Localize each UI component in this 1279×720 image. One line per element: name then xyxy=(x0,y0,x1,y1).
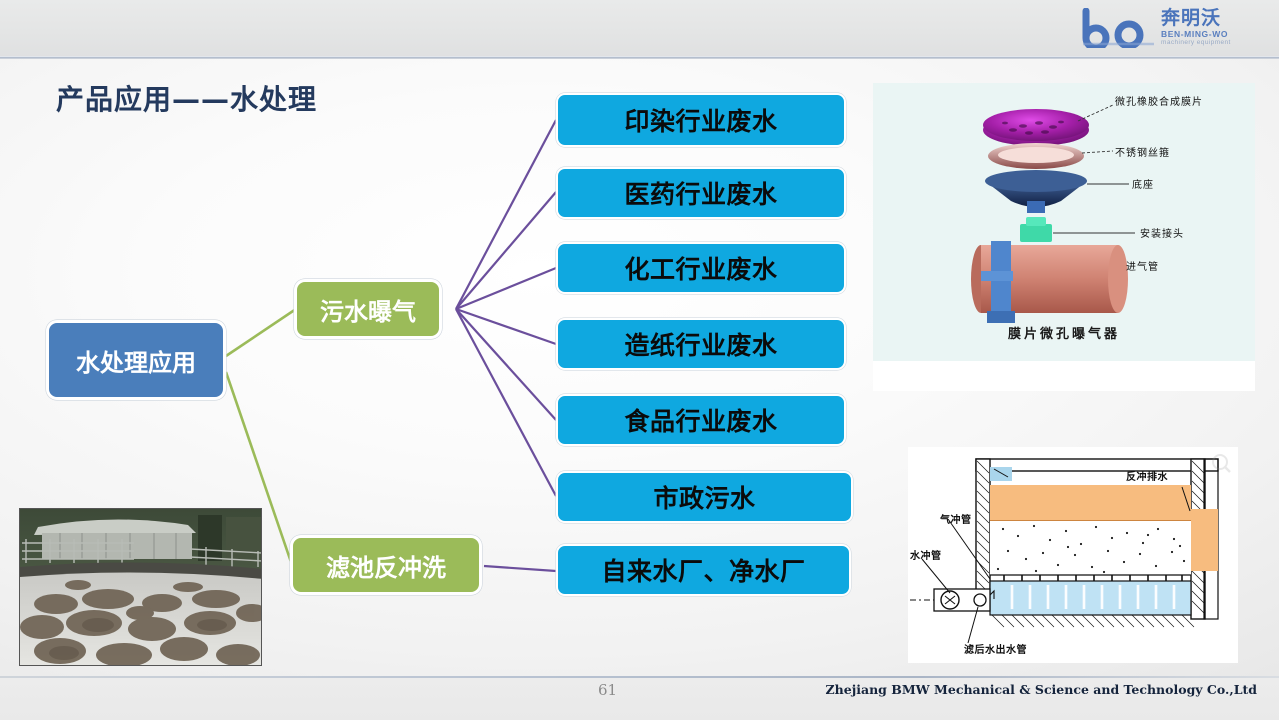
page-number: 61 xyxy=(598,681,617,699)
aerator-figure-caption: 膜片微孔曝气器 xyxy=(873,323,1255,342)
diagram-branch-wastewater-aeration[interactable]: 污水曝气 xyxy=(294,279,442,339)
filter-label-air-scour-pipe: 气冲管 xyxy=(940,511,972,526)
logo-tagline: machinery equipment xyxy=(1161,40,1231,47)
page-title: 产品应用——水处理 xyxy=(56,78,317,118)
logo-text-block: 奔明沃 BEN-MING-WO machinery equipment xyxy=(1161,9,1231,47)
logo-english-name: BEN-MING-WO xyxy=(1161,30,1231,39)
diagram-leaf-food[interactable]: 食品行业废水 xyxy=(556,394,846,446)
aerator-label-air-inlet: 进气管 xyxy=(1126,258,1159,273)
slide: 奔明沃 BEN-MING-WO machinery equipment 产品应用… xyxy=(0,0,1279,720)
filter-backwash-figure: 反冲排水 气冲管 水冲管 滤后水出水管 xyxy=(908,447,1238,663)
aerator-label-membrane: 微孔橡胶合成膜片 xyxy=(1115,93,1203,108)
filter-label-filtrate-outlet: 滤后水出水管 xyxy=(964,641,1027,656)
diagram-leaf-pharmaceutical[interactable]: 医药行业废水 xyxy=(556,167,846,219)
logo-chinese-name: 奔明沃 xyxy=(1161,9,1231,28)
filter-label-backwash-drain: 反冲排水 xyxy=(1126,468,1168,483)
diagram-root-node[interactable]: 水处理应用 xyxy=(46,320,226,400)
footer-company-name: Zhejiang BMW Mechanical & Science and Te… xyxy=(826,682,1257,697)
diagram-leaf-printing-dyeing[interactable]: 印染行业废水 xyxy=(556,93,846,147)
aerator-label-base: 底座 xyxy=(1132,176,1154,191)
diagram-leaf-papermaking[interactable]: 造纸行业废水 xyxy=(556,318,846,370)
company-logo: 奔明沃 BEN-MING-WO machinery equipment xyxy=(1082,2,1267,54)
diagram-leaf-waterworks[interactable]: 自来水厂、净水厂 xyxy=(556,544,851,596)
diagram-leaf-municipal-sewage[interactable]: 市政污水 xyxy=(556,471,853,523)
bo-logo-icon xyxy=(1082,8,1156,48)
filter-backwash-canvas xyxy=(908,447,1238,663)
aerator-diagram-canvas xyxy=(873,83,1255,361)
aerator-diagram-figure: 微孔橡胶合成膜片 不锈钢丝箍 底座 安装接头 进气管 膜片微孔曝气器 xyxy=(873,83,1255,391)
header-divider xyxy=(0,56,1279,59)
aerator-label-fitting: 安装接头 xyxy=(1140,225,1184,240)
aeration-basin-photo xyxy=(19,508,262,666)
diagram-leaf-chemical[interactable]: 化工行业废水 xyxy=(556,242,846,294)
aerator-label-steel-clamp: 不锈钢丝箍 xyxy=(1115,144,1170,159)
diagram-branch-filter-backwash[interactable]: 滤池反冲洗 xyxy=(290,535,482,595)
filter-label-water-wash-pipe: 水冲管 xyxy=(910,547,942,562)
